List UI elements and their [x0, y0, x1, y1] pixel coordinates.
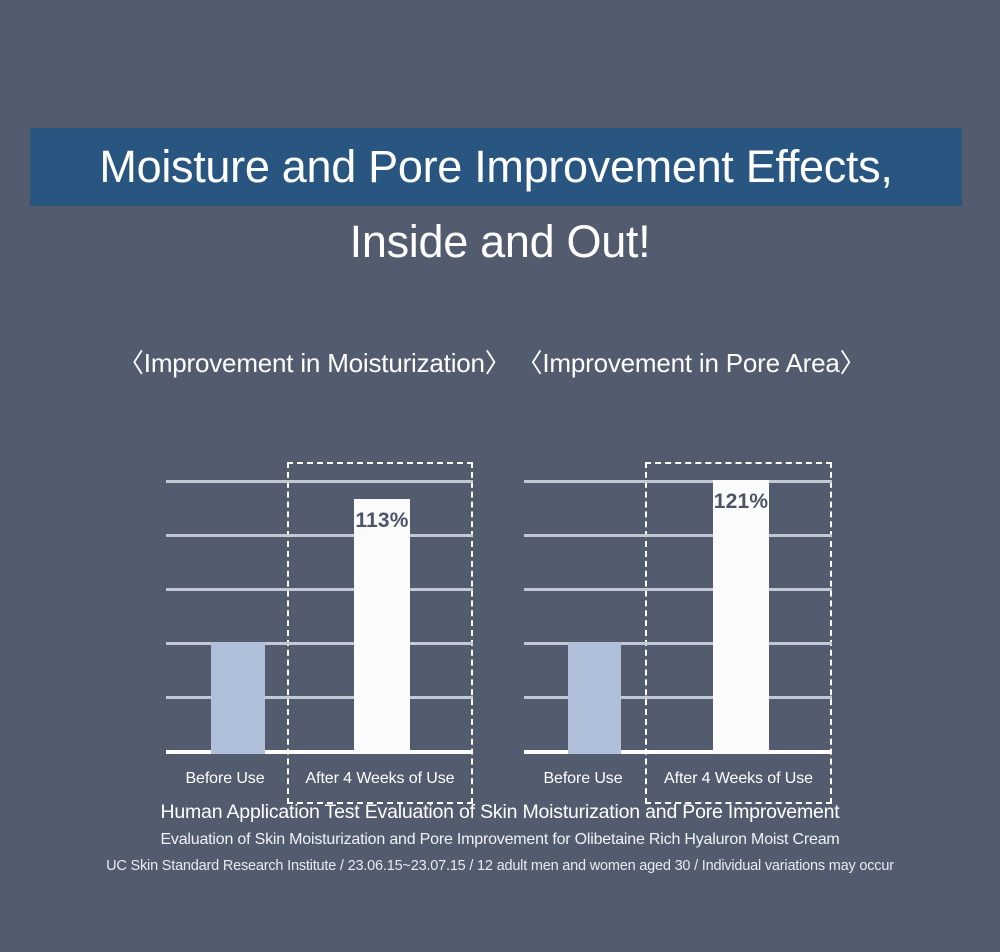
- gridline: [166, 534, 473, 537]
- plot-moisturization: 113% Before Use After 4 Weeks of Use: [118, 398, 494, 808]
- chart-heading-moisturization: 〈Improvement in Moisturization〉: [118, 346, 494, 380]
- footer-line-1: Human Application Test Evaluation of Ski…: [0, 798, 1000, 826]
- footer-line-2: Evaluation of Skin Moisturization and Po…: [0, 826, 1000, 853]
- axis-label-after-use: After 4 Weeks of Use: [645, 770, 832, 788]
- promo-infographic-page: { "title": { "line1": "Moisture and Pore…: [0, 0, 1000, 952]
- bar-after-use: 113%: [354, 499, 410, 754]
- footer-line-3: UC Skin Standard Research Institute / 23…: [0, 853, 1000, 879]
- bar-before-use: [568, 642, 621, 754]
- bar-before-use: [211, 642, 265, 754]
- axis-label-before-use: Before Use: [166, 770, 284, 788]
- chart-pore-area: 〈Improvement in Pore Area〉 121% Before U…: [508, 346, 874, 808]
- gridline: [524, 480, 832, 483]
- axis-label-before-use: Before Use: [524, 770, 642, 788]
- chart-moisturization: 〈Improvement in Moisturization〉 113% Bef…: [118, 346, 494, 808]
- chart-heading-pore-area: 〈Improvement in Pore Area〉: [508, 346, 874, 380]
- axis-label-after-use: After 4 Weeks of Use: [287, 770, 473, 788]
- footer-notes: Human Application Test Evaluation of Ski…: [0, 798, 1000, 879]
- bar-value-label: 121%: [713, 490, 769, 514]
- gridline: [166, 480, 473, 483]
- gridline: [524, 588, 832, 591]
- gridline: [524, 534, 832, 537]
- plot-pore-area: 121% Before Use After 4 Weeks of Use: [508, 398, 874, 808]
- gridline: [166, 588, 473, 591]
- bar-value-label: 113%: [354, 509, 410, 533]
- bar-after-use: 121%: [713, 480, 769, 754]
